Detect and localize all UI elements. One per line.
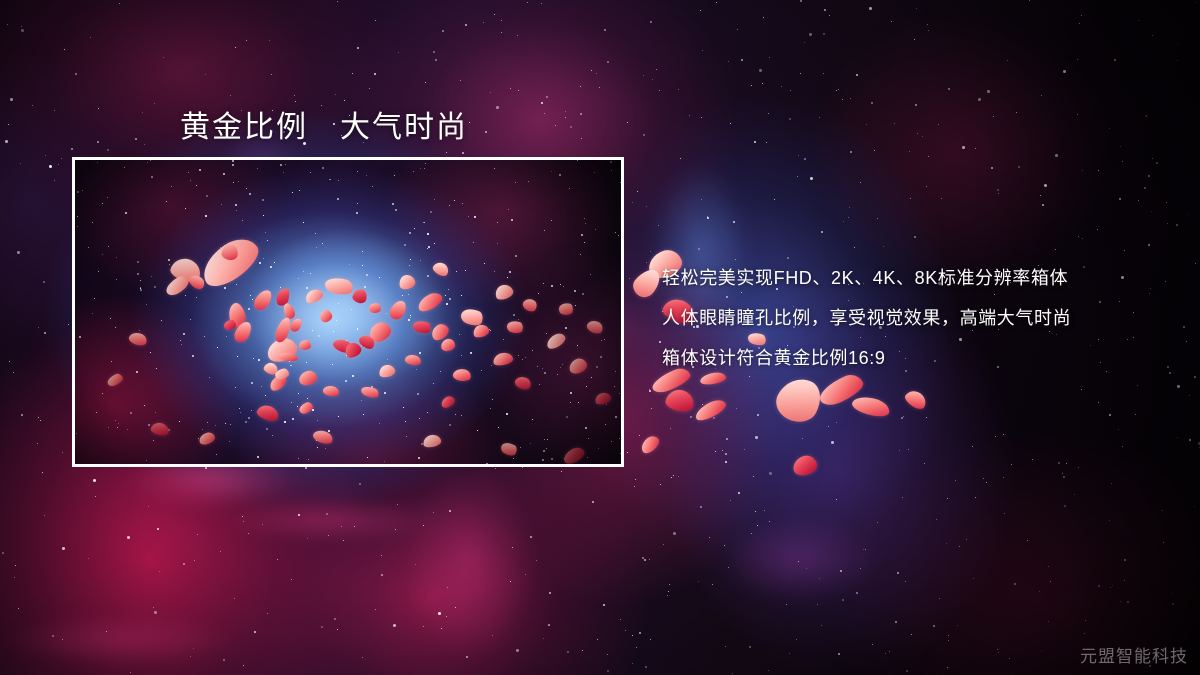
petal <box>664 387 696 413</box>
petal <box>693 396 729 423</box>
petal <box>770 371 828 430</box>
starfield-bright <box>0 0 3 3</box>
petal <box>850 393 891 420</box>
preview-image-frame <box>72 157 624 467</box>
page-title: 黄金比例 大气时尚 <box>180 102 468 146</box>
watermark: 元盟智能科技 <box>1080 642 1188 667</box>
petal <box>791 454 818 478</box>
petal <box>629 264 665 301</box>
body-line-3: 箱体设计符合黄金比例16:9 <box>662 338 1162 378</box>
preview-image <box>75 160 621 464</box>
body-line-2: 人体眼睛瞳孔比例，享受视觉效果，高端大气时尚 <box>662 298 1162 338</box>
starfield-fine <box>0 0 1 1</box>
slide-canvas: 黄金比例 大气时尚 轻松完美实现FHD、2K、4K、8K标准分辨率箱体 人体眼睛… <box>0 0 1200 675</box>
body-line-1: 轻松完美实现FHD、2K、4K、8K标准分辨率箱体 <box>662 258 1162 298</box>
starfield-mid <box>0 0 2 2</box>
petal <box>903 387 930 412</box>
petal <box>638 433 662 456</box>
body-copy: 轻松完美实现FHD、2K、4K、8K标准分辨率箱体 人体眼睛瞳孔比例，享受视觉效… <box>662 258 1162 378</box>
